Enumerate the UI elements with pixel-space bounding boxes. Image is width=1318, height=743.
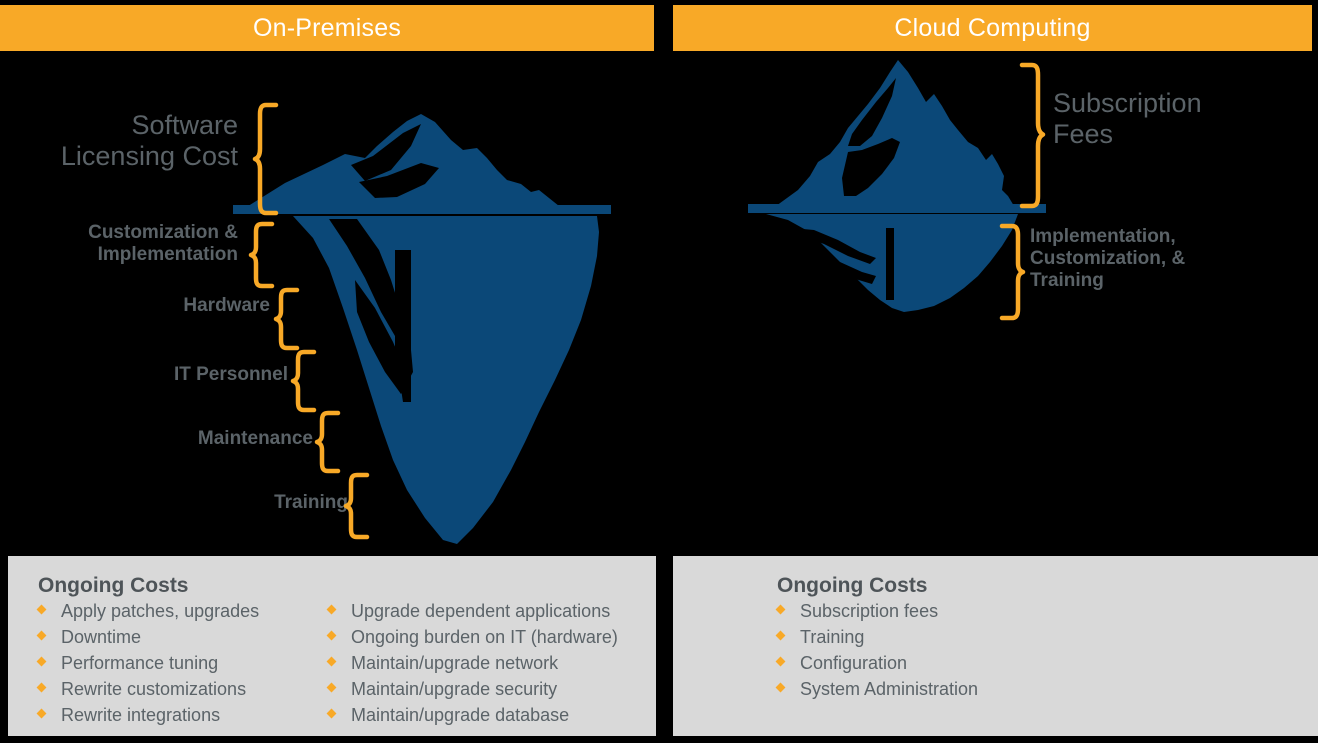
infographic-canvas: On-Premises Cloud Computing xyxy=(0,0,1318,743)
curly-brace-icon-training xyxy=(345,473,369,539)
list-item: Maintain/upgrade network xyxy=(328,654,648,680)
list-item: Subscription fees xyxy=(777,602,978,628)
header-band-cloud-computing: Cloud Computing xyxy=(673,5,1312,51)
list-item-label: System Administration xyxy=(800,680,978,698)
label-software-licensing-cost: Software Licensing Cost xyxy=(0,110,238,172)
curly-brace-icon-software xyxy=(254,103,278,215)
label-customization-implementation: Customization & Implementation xyxy=(0,222,238,266)
diamond-bullet-icon xyxy=(327,683,337,693)
header-title-cloud-computing: Cloud Computing xyxy=(894,16,1090,41)
list-item: Rewrite customizations xyxy=(38,680,328,706)
list-item-label: Ongoing burden on IT (hardware) xyxy=(351,628,618,646)
list-item-label: Performance tuning xyxy=(61,654,218,672)
list-item: Downtime xyxy=(38,628,328,654)
header-title-on-premises: On-Premises xyxy=(253,16,401,41)
ongoing-costs-column-1-left: Apply patches, upgrades Downtime Perform… xyxy=(38,602,328,732)
ongoing-costs-box-on-premises: Ongoing Costs Apply patches, upgrades Do… xyxy=(8,556,656,736)
diamond-bullet-icon xyxy=(776,683,786,693)
label-training: Training xyxy=(88,492,348,514)
list-item: Maintain/upgrade security xyxy=(328,680,648,706)
diamond-bullet-icon xyxy=(327,631,337,641)
ongoing-costs-title-left: Ongoing Costs xyxy=(38,574,656,598)
curly-brace-icon-maintenance xyxy=(316,411,340,473)
diamond-bullet-icon xyxy=(327,709,337,719)
ongoing-costs-box-cloud-computing: Ongoing Costs Subscription fees Training… xyxy=(673,556,1318,736)
label-it-personnel: IT Personnel xyxy=(28,364,288,386)
list-item-label: Maintain/upgrade network xyxy=(351,654,558,672)
list-item-label: Maintain/upgrade database xyxy=(351,706,569,724)
label-hardware: Hardware xyxy=(10,295,270,317)
curly-brace-icon-customization xyxy=(250,222,274,288)
list-item: System Administration xyxy=(777,680,978,706)
ongoing-costs-columns-right: Subscription fees Training Configuration… xyxy=(673,602,1318,706)
curly-brace-icon-hardware xyxy=(275,288,299,350)
diamond-bullet-icon xyxy=(37,631,47,641)
ongoing-costs-column-2-left: Upgrade dependent applications Ongoing b… xyxy=(328,602,648,732)
ongoing-costs-column-1-right: Subscription fees Training Configuration… xyxy=(777,602,978,706)
label-subscription-fees: Subscription Fees xyxy=(1053,88,1303,150)
list-item-label: Rewrite integrations xyxy=(61,706,220,724)
waterline-icon-right xyxy=(748,204,1046,213)
list-item: Configuration xyxy=(777,654,978,680)
list-item-label: Subscription fees xyxy=(800,602,938,620)
list-item: Performance tuning xyxy=(38,654,328,680)
ongoing-costs-title-right: Ongoing Costs xyxy=(777,574,1318,598)
diamond-bullet-icon xyxy=(776,657,786,667)
list-item-label: Apply patches, upgrades xyxy=(61,602,259,620)
diamond-bullet-icon xyxy=(776,605,786,615)
diamond-bullet-icon xyxy=(37,657,47,667)
diamond-bullet-icon xyxy=(327,605,337,615)
list-item-label: Upgrade dependent applications xyxy=(351,602,610,620)
diamond-bullet-icon xyxy=(37,605,47,615)
list-item: Apply patches, upgrades xyxy=(38,602,328,628)
list-item: Rewrite integrations xyxy=(38,706,328,732)
list-item-label: Maintain/upgrade security xyxy=(351,680,557,698)
list-item-label: Downtime xyxy=(61,628,141,646)
label-maintenance: Maintenance xyxy=(53,428,313,450)
ongoing-costs-columns-left: Apply patches, upgrades Downtime Perform… xyxy=(8,602,656,732)
diamond-bullet-icon xyxy=(776,631,786,641)
diamond-bullet-icon xyxy=(327,657,337,667)
curly-brace-icon-it-personnel xyxy=(292,350,316,412)
list-item: Ongoing burden on IT (hardware) xyxy=(328,628,648,654)
header-band-on-premises: On-Premises xyxy=(0,5,654,51)
curly-brace-icon-implementation xyxy=(1000,224,1024,320)
waterline-icon-left xyxy=(233,205,611,214)
list-item: Upgrade dependent applications xyxy=(328,602,648,628)
list-item: Maintain/upgrade database xyxy=(328,706,648,732)
list-item-label: Configuration xyxy=(800,654,907,672)
curly-brace-icon-subscription xyxy=(1020,63,1044,208)
list-item: Training xyxy=(777,628,978,654)
diamond-bullet-icon xyxy=(37,683,47,693)
list-item-label: Rewrite customizations xyxy=(61,680,246,698)
label-implementation-customization-training: Implementation, Customization, & Trainin… xyxy=(1030,226,1280,292)
list-item-label: Training xyxy=(800,628,864,646)
diamond-bullet-icon xyxy=(37,709,47,719)
